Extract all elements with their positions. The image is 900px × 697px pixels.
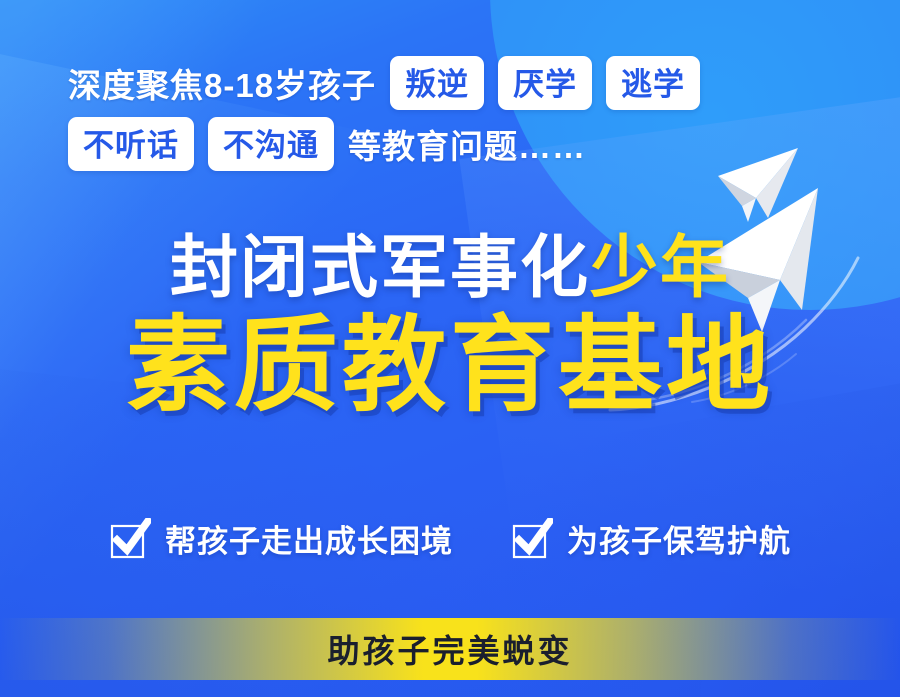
benefit-item-escort: 为孩子保驾护航 [511, 516, 791, 561]
tagline-trail-text: 等教育问题…… [348, 120, 586, 168]
promo-banner: 深度聚焦8-18岁孩子 叛逆 厌学 逃学 不听话 不沟通 等教育问题…… 封闭式… [0, 0, 900, 697]
tag-pill-rebellious[interactable]: 叛逆 [390, 56, 484, 110]
bottom-strip: 助孩子完美蜕变 [0, 618, 900, 680]
headline-line-1: 封闭式军事化少年 [0, 232, 900, 305]
tagline-row-2: 不听话 不沟通 等教育问题…… [68, 119, 858, 169]
tagline-lead-text: 深度聚焦8-18岁孩子 [68, 59, 376, 107]
benefit-label-escort: 为孩子保驾护航 [567, 516, 791, 561]
benefit-label-growth: 帮孩子走出成长困境 [165, 516, 453, 561]
tag-pill-disobedient[interactable]: 不听话 [68, 117, 194, 171]
tag-pill-school-aversion[interactable]: 厌学 [498, 56, 592, 110]
checkbox-check-icon [511, 518, 553, 560]
page-title: 封闭式军事化少年 素质教育基地 [0, 232, 900, 422]
benefits-row: 帮孩子走出成长困境 为孩子保驾护航 [0, 516, 900, 561]
headline-line-1-white: 封闭式军事化 [170, 230, 590, 306]
bottom-strip-label: 助孩子完美蜕变 [327, 626, 572, 672]
headline-line-1-yellow: 少年 [590, 230, 730, 306]
benefit-item-growth: 帮孩子走出成长困境 [109, 516, 453, 561]
tagline-block: 深度聚焦8-18岁孩子 叛逆 厌学 逃学 不听话 不沟通 等教育问题…… [68, 58, 858, 180]
tag-pill-truancy[interactable]: 逃学 [606, 56, 700, 110]
checkbox-check-icon [109, 518, 151, 560]
tagline-row-1: 深度聚焦8-18岁孩子 叛逆 厌学 逃学 [68, 58, 858, 108]
tag-pill-no-communication[interactable]: 不沟通 [208, 117, 334, 171]
headline-line-2: 素质教育基地 [0, 311, 900, 421]
